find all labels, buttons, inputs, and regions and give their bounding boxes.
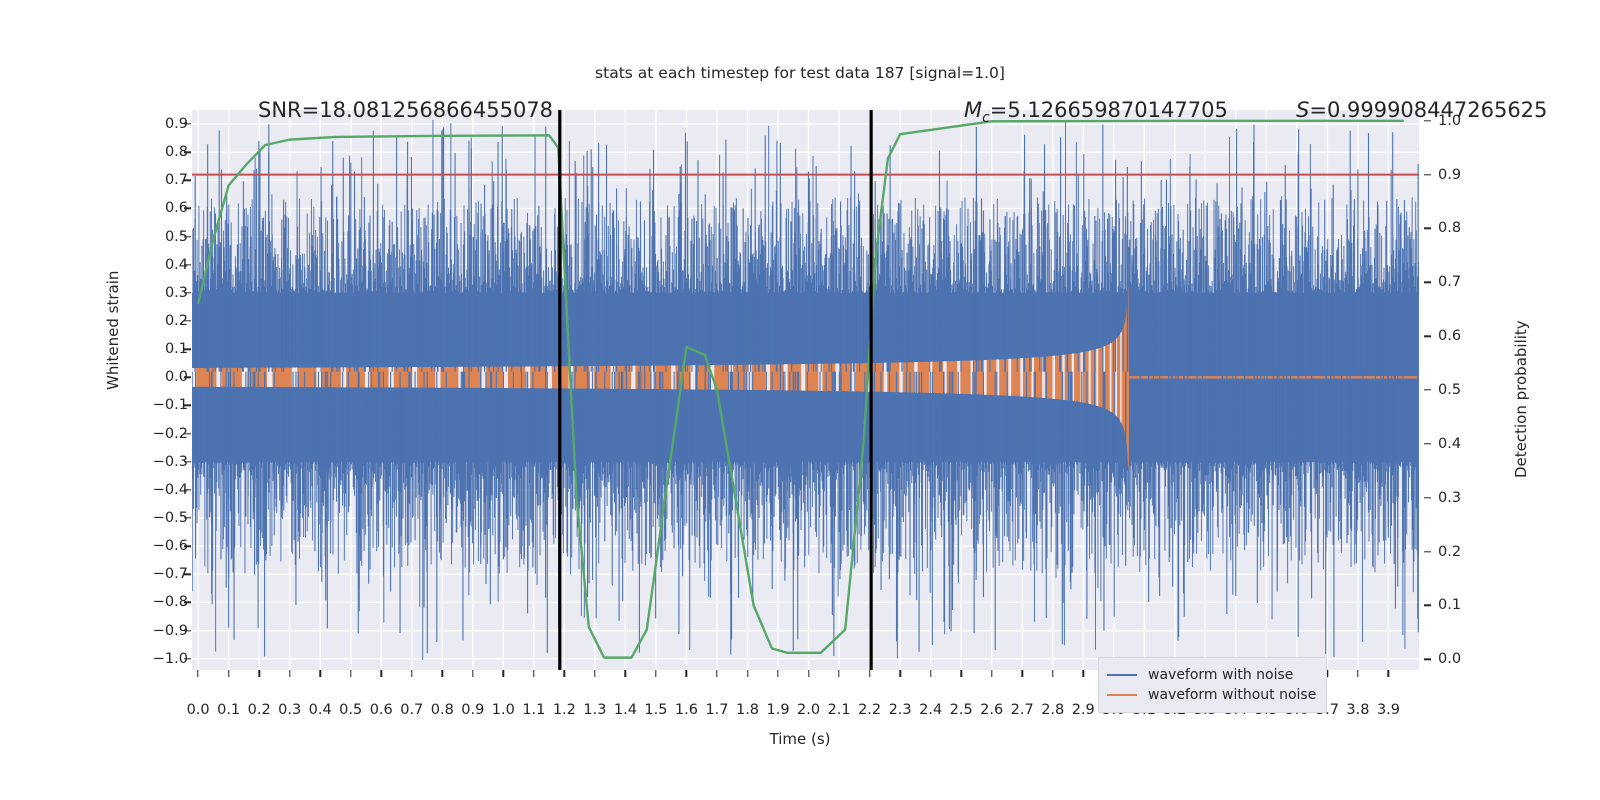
y-tick-label-right: 0.4 [1438,436,1508,452]
y-tick-label-left: −0.6 [118,538,188,554]
x-tick-mark [472,670,473,677]
y-tick-label-left: −0.9 [118,623,188,639]
score-annotation: S=0.999908447265625 [1296,98,1547,122]
x-tick-mark [411,670,412,677]
y-tick-label-right: 0.5 [1438,382,1508,398]
x-tick-label: 2.7 [1011,702,1034,718]
y-tick-mark-left [184,630,191,631]
y-tick-mark-left [184,320,191,321]
x-tick-label: 2.1 [828,702,851,718]
y-tick-mark-left [184,602,191,603]
x-tick-label: 1.3 [583,702,606,718]
y-tick-mark-left [184,517,191,518]
y-tick-label-left: 0.5 [118,229,188,245]
y-tick-mark-right [1424,443,1431,444]
x-tick-mark [564,670,565,677]
y-tick-label-left: 0.1 [118,341,188,357]
x-tick-label: 2.3 [889,702,912,718]
chirp-mass-equals: = [990,98,1008,122]
y-tick-mark-right [1424,497,1431,498]
x-tick-mark [1388,670,1389,677]
x-tick-label: 2.2 [858,702,881,718]
x-tick-mark [594,670,595,677]
x-tick-mark [1022,670,1023,677]
x-tick-mark [625,670,626,677]
x-tick-label: 0.0 [187,702,210,718]
x-tick-label: 2.0 [797,702,820,718]
x-tick-mark [747,670,748,677]
figure-canvas: stats at each timestep for test data 187… [0,0,1600,800]
x-tick-label: 2.4 [919,702,942,718]
snr-annotation: SNR=18.081256866455078 [258,98,553,122]
y-tick-label-right: 0.1 [1438,597,1508,613]
y-tick-label-left: −0.2 [118,426,188,442]
y-tick-mark-left [184,264,191,265]
snr-prefix: SNR= [258,98,319,122]
x-tick-label: 2.5 [950,702,973,718]
y-tick-label-left: −0.1 [118,397,188,413]
x-tick-mark [930,670,931,677]
x-tick-label: 2.6 [980,702,1003,718]
x-tick-mark [289,670,290,677]
y-tick-label-left: 0.0 [118,369,188,385]
x-tick-label: 3.9 [1377,702,1400,718]
y-tick-mark-right [1424,335,1431,336]
x-tick-mark [899,670,900,677]
page-title: stats at each timestep for test data 187… [0,64,1600,82]
x-tick-label: 3.8 [1346,702,1369,718]
legend: waveform with noise waveform without noi… [1098,657,1327,713]
chirp-mass-symbol: M [964,98,982,122]
y-tick-mark-right [1424,228,1431,229]
y-tick-label-left: −0.3 [118,454,188,470]
x-tick-label: 2.8 [1041,702,1064,718]
score-symbol: S [1296,98,1309,122]
y-tick-mark-left [184,574,191,575]
score-equals: = [1309,98,1327,122]
y-axis-label-left: Whitened strain [104,271,122,390]
y-tick-mark-right [1424,551,1431,552]
y-tick-label-left: 0.6 [118,200,188,216]
y-tick-label-left: −0.5 [118,510,188,526]
x-tick-mark [228,670,229,677]
x-tick-mark [686,670,687,677]
y-tick-mark-left [184,377,191,378]
y-tick-label-left: 0.8 [118,144,188,160]
y-axis-label-right: Detection probability [1512,320,1530,478]
y-tick-label-right: 0.2 [1438,544,1508,560]
legend-item-with-noise: waveform with noise [1107,665,1316,685]
chirp-mass-annotation: Mc=5.126659870147705 [964,98,1228,126]
y-tick-label-left: 0.9 [118,116,188,132]
x-tick-mark [197,670,198,677]
x-tick-label: 0.9 [461,702,484,718]
x-tick-mark [960,670,961,677]
y-tick-mark-left [184,152,191,153]
y-tick-mark-left [184,348,191,349]
legend-swatch-without-noise [1107,694,1137,696]
x-tick-mark [1357,670,1358,677]
y-tick-mark-left [184,545,191,546]
y-tick-label-left: −0.4 [118,482,188,498]
chirp-mass-subscript: c [982,110,990,126]
y-tick-label-left: −0.7 [118,566,188,582]
x-tick-mark [381,670,382,677]
x-tick-label: 1.5 [644,702,667,718]
y-tick-mark-right [1424,282,1431,283]
x-tick-label: 1.6 [675,702,698,718]
y-tick-label-right: 0.7 [1438,274,1508,290]
x-tick-label: 1.8 [736,702,759,718]
x-tick-label: 1.2 [553,702,576,718]
y-tick-mark-left [184,180,191,181]
x-tick-mark [533,670,534,677]
x-tick-mark [503,670,504,677]
x-tick-mark [716,670,717,677]
x-tick-mark [838,670,839,677]
y-tick-mark-left [184,461,191,462]
x-axis-label: Time (s) [0,730,1600,748]
y-tick-mark-right [1424,605,1431,606]
y-tick-label-left: 0.4 [118,257,188,273]
x-tick-mark [869,670,870,677]
y-tick-label-right: 0.6 [1438,328,1508,344]
x-tick-mark [777,670,778,677]
x-tick-mark [350,670,351,677]
y-tick-mark-right [1424,659,1431,660]
y-tick-label-left: 0.2 [118,313,188,329]
y-tick-mark-right [1424,389,1431,390]
y-tick-label-right: 0.3 [1438,490,1508,506]
x-tick-mark [1083,670,1084,677]
y-tick-label-right: 0.9 [1438,167,1508,183]
y-tick-mark-left [184,433,191,434]
x-tick-label: 1.4 [614,702,637,718]
x-tick-label: 2.9 [1072,702,1095,718]
y-tick-mark-left [184,208,191,209]
x-tick-mark [808,670,809,677]
y-tick-mark-left [184,292,191,293]
y-tick-label-right: 0.8 [1438,220,1508,236]
x-tick-mark [655,670,656,677]
plot-surface [192,110,1419,670]
snr-value: 18.081256866455078 [319,98,553,122]
y-tick-label-left: −0.8 [118,594,188,610]
y-tick-label-left: −1.0 [118,651,188,667]
x-tick-label: 0.3 [278,702,301,718]
legend-label-without-noise: waveform without noise [1148,687,1316,703]
x-tick-mark [258,670,259,677]
y-tick-mark-left [184,236,191,237]
y-tick-mark-left [184,658,191,659]
plot-axes [192,110,1419,670]
legend-swatch-with-noise [1107,674,1137,676]
y-tick-label-left: 0.3 [118,285,188,301]
x-tick-mark [442,670,443,677]
x-tick-label: 1.0 [492,702,515,718]
y-tick-label-left: 0.7 [118,172,188,188]
y-tick-label-right: 0.0 [1438,651,1508,667]
x-tick-mark [991,670,992,677]
x-tick-label: 0.4 [309,702,332,718]
x-tick-label: 0.5 [339,702,362,718]
x-tick-mark [1052,670,1053,677]
x-tick-label: 0.6 [370,702,393,718]
x-tick-mark [319,670,320,677]
y-tick-mark-left [184,123,191,124]
x-tick-label: 0.7 [400,702,423,718]
y-tick-mark-right [1424,174,1431,175]
legend-item-without-noise: waveform without noise [1107,685,1316,705]
y-tick-mark-left [184,405,191,406]
legend-label-with-noise: waveform with noise [1148,667,1293,683]
x-tick-label: 1.1 [522,702,545,718]
x-tick-label: 0.2 [248,702,271,718]
x-tick-label: 1.7 [705,702,728,718]
x-tick-label: 0.8 [431,702,454,718]
y-tick-mark-left [184,489,191,490]
x-tick-label: 1.9 [766,702,789,718]
x-tick-label: 0.1 [217,702,240,718]
chirp-mass-value: 5.126659870147705 [1007,98,1227,122]
score-value: 0.999908447265625 [1327,98,1547,122]
